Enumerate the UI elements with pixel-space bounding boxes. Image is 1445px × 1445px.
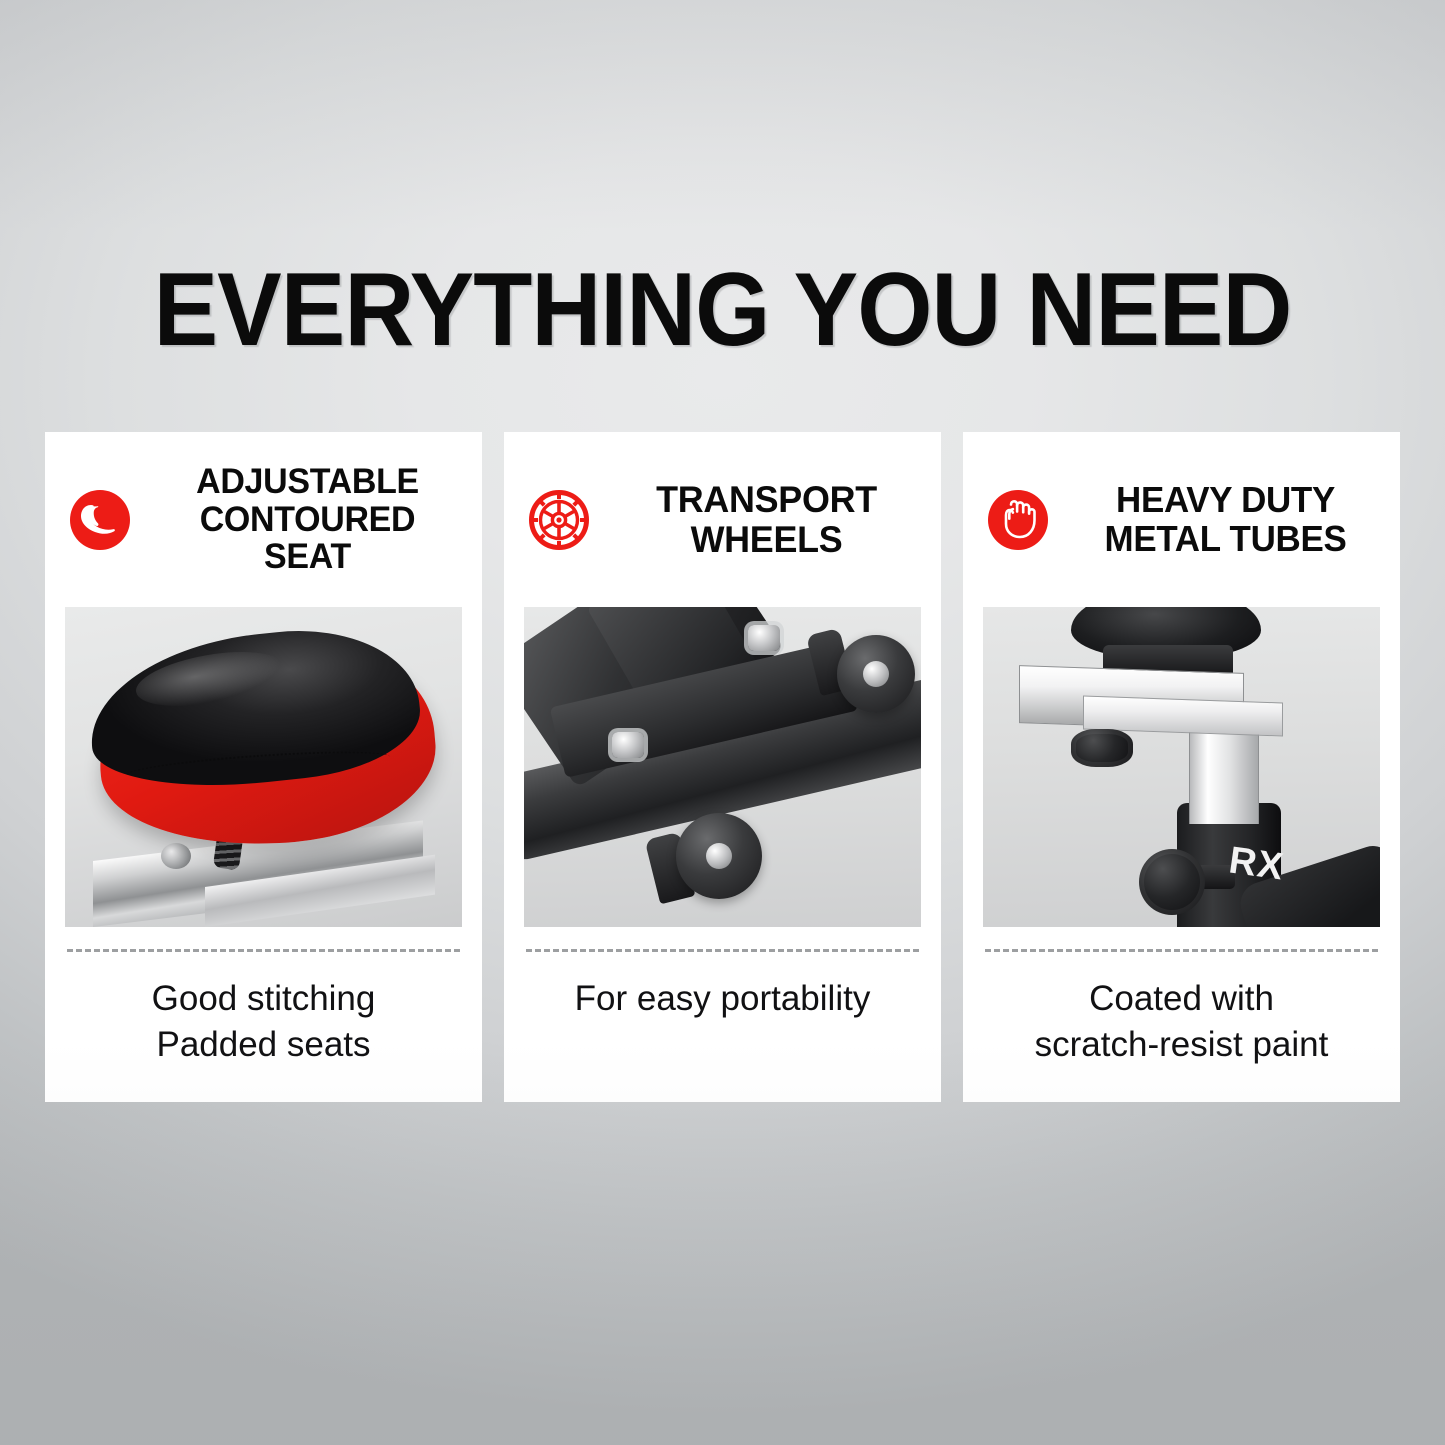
chrome-bolt bbox=[748, 625, 780, 651]
card-heading: TRANSPORT WHEELS bbox=[609, 480, 924, 560]
card-caption: Good stitching Padded seats bbox=[45, 952, 482, 1102]
chrome-bolt bbox=[612, 732, 644, 758]
wheel-axle-bolt bbox=[863, 661, 889, 687]
dashed-divider bbox=[985, 949, 1378, 952]
card-heading: HEAVY DUTY METAL TUBES bbox=[1068, 481, 1383, 559]
card-caption: For easy portability bbox=[504, 952, 941, 1102]
page-title: EVERYTHING YOU NEED bbox=[51, 258, 1395, 362]
bike-seat-icon bbox=[69, 489, 131, 551]
card-header: ADJUSTABLE CONTOURED SEAT bbox=[45, 432, 482, 607]
card-header: TRANSPORT WHEELS bbox=[504, 432, 941, 607]
transport-wheel bbox=[676, 813, 762, 899]
poster-canvas: EVERYTHING YOU NEED ADJUSTABLE CONTOURED… bbox=[0, 0, 1445, 1445]
card-caption: Coated with scratch-resist paint bbox=[963, 952, 1400, 1102]
feature-card-transport-wheels: TRANSPORT WHEELS For easy portabil bbox=[504, 432, 941, 1102]
wheel-axle-bolt bbox=[706, 843, 732, 869]
dashed-divider bbox=[67, 949, 460, 952]
feature-card-heavy-duty-metal-tubes: HEAVY DUTY METAL TUBES RX Coated with sc… bbox=[963, 432, 1400, 1102]
transport-wheel-icon bbox=[528, 489, 590, 551]
card-photo-metal-tubes: RX bbox=[983, 607, 1380, 927]
card-photo-bike-seat bbox=[65, 607, 462, 927]
frame-brand-text: RX bbox=[1226, 839, 1286, 889]
seat-clamp-bolt bbox=[161, 843, 191, 869]
raised-fist-icon bbox=[987, 489, 1049, 551]
transport-wheel bbox=[837, 635, 915, 713]
adjustment-knob bbox=[1071, 729, 1133, 767]
dashed-divider bbox=[526, 949, 919, 952]
feature-card-list: ADJUSTABLE CONTOURED SEAT Good stitching… bbox=[45, 432, 1400, 1102]
card-header: HEAVY DUTY METAL TUBES bbox=[963, 432, 1400, 607]
card-heading: ADJUSTABLE CONTOURED SEAT bbox=[150, 463, 465, 576]
adjustment-knob bbox=[1139, 849, 1205, 915]
card-photo-transport-wheels bbox=[524, 607, 921, 927]
feature-card-adjustable-contoured-seat: ADJUSTABLE CONTOURED SEAT Good stitching… bbox=[45, 432, 482, 1102]
